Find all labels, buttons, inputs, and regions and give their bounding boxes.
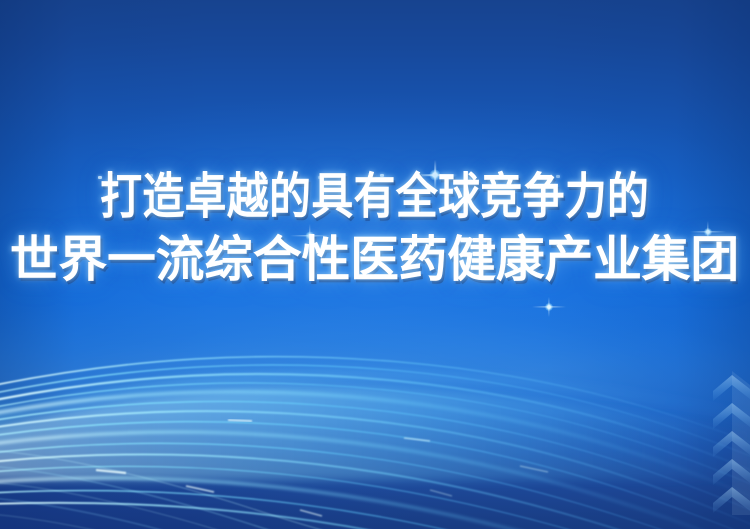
headline-line-1: 打造卓越的具有全球竞争力的	[100, 172, 649, 221]
chevron-arrow-stack	[710, 365, 750, 515]
sparkle-icon	[532, 290, 566, 324]
banner-headline: 打造卓越的具有全球竞争力的 世界一流综合性医药健康产业集团	[0, 172, 750, 284]
flowing-light-streaks	[0, 300, 750, 529]
banner-canvas: 打造卓越的具有全球竞争力的 世界一流综合性医药健康产业集团	[0, 0, 750, 529]
headline-line-2: 世界一流综合性医药健康产业集团	[10, 235, 739, 284]
chevron-column-face	[732, 371, 750, 515]
